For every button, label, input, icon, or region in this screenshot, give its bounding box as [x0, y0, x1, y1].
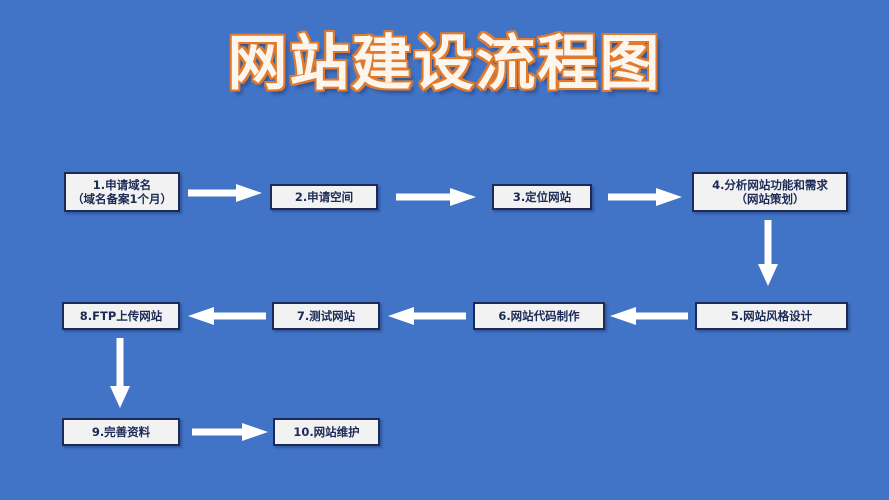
flowchart-canvas: 网站建设流程图 1.申请域名 （域名备案1个月） 2.申请空间 3.定位网站 4…	[0, 0, 889, 500]
arrow-8-to-9	[110, 338, 130, 408]
arrow-1-to-2	[188, 184, 262, 202]
arrow-6-to-7	[388, 307, 466, 325]
arrow-9-to-10	[192, 423, 268, 441]
arrow-3-to-4	[608, 188, 682, 206]
flow-node-7[interactable]: 7.测试网站	[272, 302, 380, 330]
flow-node-4[interactable]: 4.分析网站功能和需求 （网站策划）	[692, 172, 848, 212]
arrow-4-to-5	[758, 220, 778, 286]
flow-node-6[interactable]: 6.网站代码制作	[473, 302, 605, 330]
arrow-2-to-3	[396, 188, 476, 206]
flow-node-8[interactable]: 8.FTP上传网站	[62, 302, 180, 330]
page-title: 网站建设流程图	[0, 30, 889, 99]
arrow-5-to-6	[610, 307, 688, 325]
flow-node-9[interactable]: 9.完善资料	[62, 418, 180, 446]
flow-node-3[interactable]: 3.定位网站	[492, 184, 592, 210]
arrow-7-to-8	[188, 307, 266, 325]
flow-node-5[interactable]: 5.网站风格设计	[695, 302, 848, 330]
flow-node-1[interactable]: 1.申请域名 （域名备案1个月）	[64, 172, 180, 212]
flow-node-10[interactable]: 10.网站维护	[273, 418, 380, 446]
flow-node-2[interactable]: 2.申请空间	[270, 184, 378, 210]
